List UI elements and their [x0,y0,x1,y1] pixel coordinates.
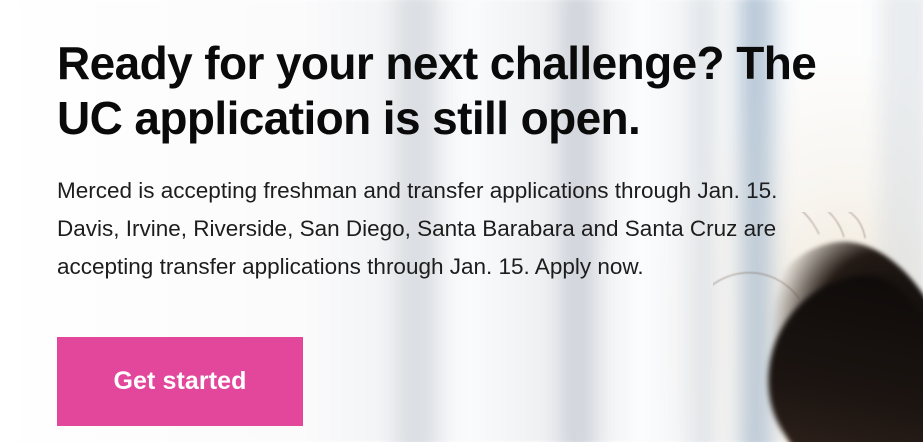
hero-headline: Ready for your next challenge? The UC ap… [57,36,877,146]
hero-body-line-1: Merced is accepting freshman and transfe… [57,172,887,210]
hero-body-line-2: Davis, Irvine, Riverside, San Diego, San… [57,210,887,248]
hero-body-line-3: accepting transfer applications through … [57,248,887,286]
get-started-button[interactable]: Get started [57,337,303,426]
get-started-button-label: Get started [113,367,246,396]
hero-content: Ready for your next challenge? The UC ap… [0,0,923,442]
hero-body-text: Merced is accepting freshman and transfe… [57,172,887,286]
hero-banner: Ready for your next challenge? The UC ap… [0,0,923,442]
